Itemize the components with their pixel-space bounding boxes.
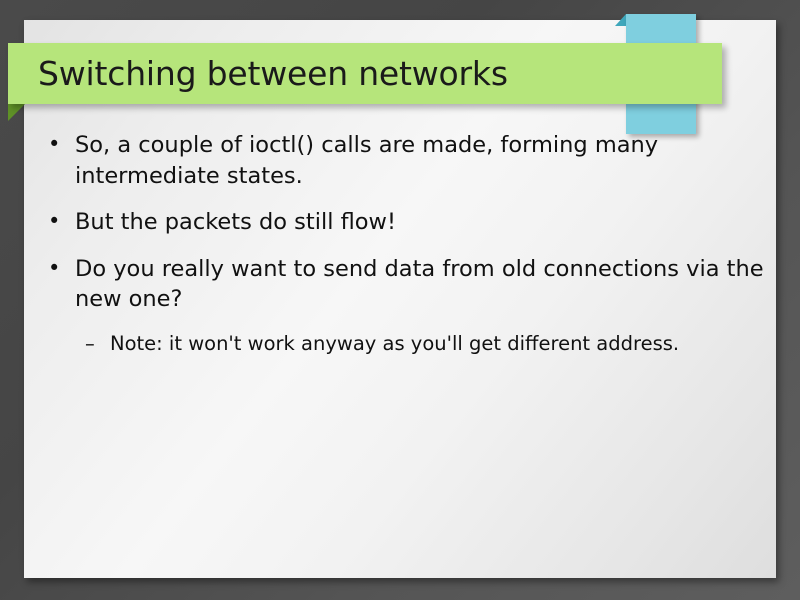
slide-content: • So, a couple of ioctl() calls are made… [24,130,776,367]
bullet-text: So, a couple of ioctl() calls are made, … [75,132,658,189]
sub-bullet-item: – Note: it won't work anyway as you'll g… [24,331,776,358]
sub-bullet-text: Note: it won't work anyway as you'll get… [110,332,679,355]
title-banner: Switching between networks [8,43,722,104]
bullet-item: • Do you really want to send data from o… [24,254,776,315]
bullet-marker-icon: • [48,207,60,236]
bullet-text: But the packets do still flow! [75,209,396,235]
sub-bullet-marker-icon: – [85,331,95,358]
slide-frame: Switching between networks • So, a coupl… [0,0,800,600]
slide-title: Switching between networks [8,57,508,90]
bullet-list: • So, a couple of ioctl() calls are made… [24,130,776,357]
bullet-item: • So, a couple of ioctl() calls are made… [24,130,776,191]
bullet-marker-icon: • [48,130,60,159]
bullet-item: • But the packets do still flow! [24,207,776,238]
title-banner-fold-decoration [8,104,25,121]
bullet-marker-icon: • [48,254,60,283]
bullet-text: Do you really want to send data from old… [75,256,764,313]
accent-fold-decoration [615,14,626,26]
